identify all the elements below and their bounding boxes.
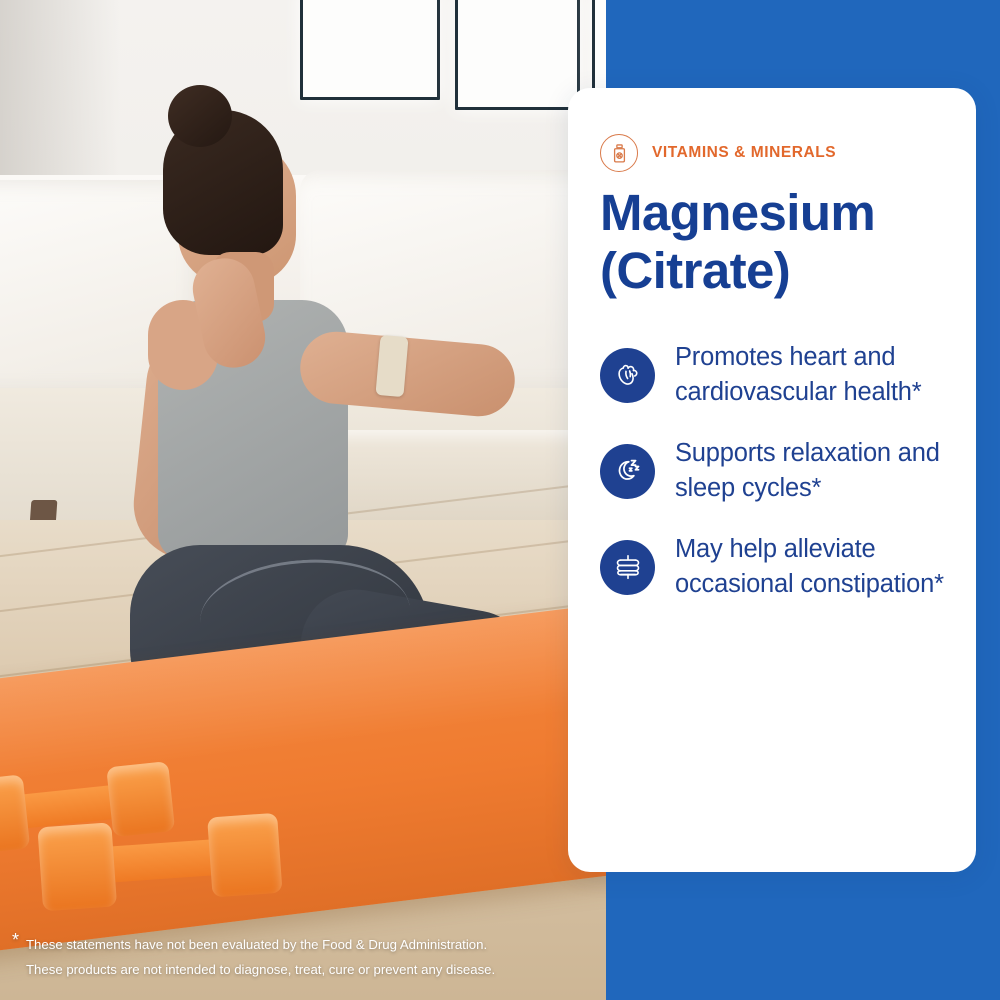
lifestyle-photo: * These statements have not been evaluat… xyxy=(0,0,606,1000)
category-badge: VITAMINS & MINERALS xyxy=(600,134,836,172)
benefit-text: Supports relaxation and sleep cycles* xyxy=(675,436,950,506)
benefit-text: May help alleviate occasional constipati… xyxy=(675,532,950,602)
page-title: Magnesium (Citrate) xyxy=(600,184,950,300)
category-badge-label: VITAMINS & MINERALS xyxy=(652,144,836,162)
supplement-bottle-icon xyxy=(600,134,638,172)
window-pane xyxy=(455,0,580,110)
disclaimer-line-2: These products are not intended to diagn… xyxy=(26,957,606,982)
intestine-icon xyxy=(600,540,655,595)
benefit-item: May help alleviate occasional constipati… xyxy=(600,532,950,602)
disclaimer-asterisk: * xyxy=(12,928,19,953)
benefit-text: Promotes heart and cardiovascular health… xyxy=(675,340,950,410)
title-line-2: (Citrate) xyxy=(600,242,790,299)
fda-disclaimer: * These statements have not been evaluat… xyxy=(0,904,606,1000)
disclaimer-line-1: These statements have not been evaluated… xyxy=(26,932,606,957)
person-hair-bun xyxy=(168,85,232,147)
heart-icon xyxy=(600,348,655,403)
benefit-item: Supports relaxation and sleep cycles* xyxy=(600,436,950,506)
dumbbell-front xyxy=(37,801,313,920)
moon-sleep-icon xyxy=(600,444,655,499)
product-info-card: VITAMINS & MINERALS Magnesium (Citrate) xyxy=(568,88,976,872)
benefit-item: Promotes heart and cardiovascular health… xyxy=(600,340,950,410)
benefits-list: Promotes heart and cardiovascular health… xyxy=(600,340,950,628)
window-pane xyxy=(300,0,440,100)
product-benefit-graphic: * These statements have not been evaluat… xyxy=(0,0,1000,1000)
watch-band xyxy=(375,335,408,397)
title-line-1: Magnesium xyxy=(600,184,875,241)
